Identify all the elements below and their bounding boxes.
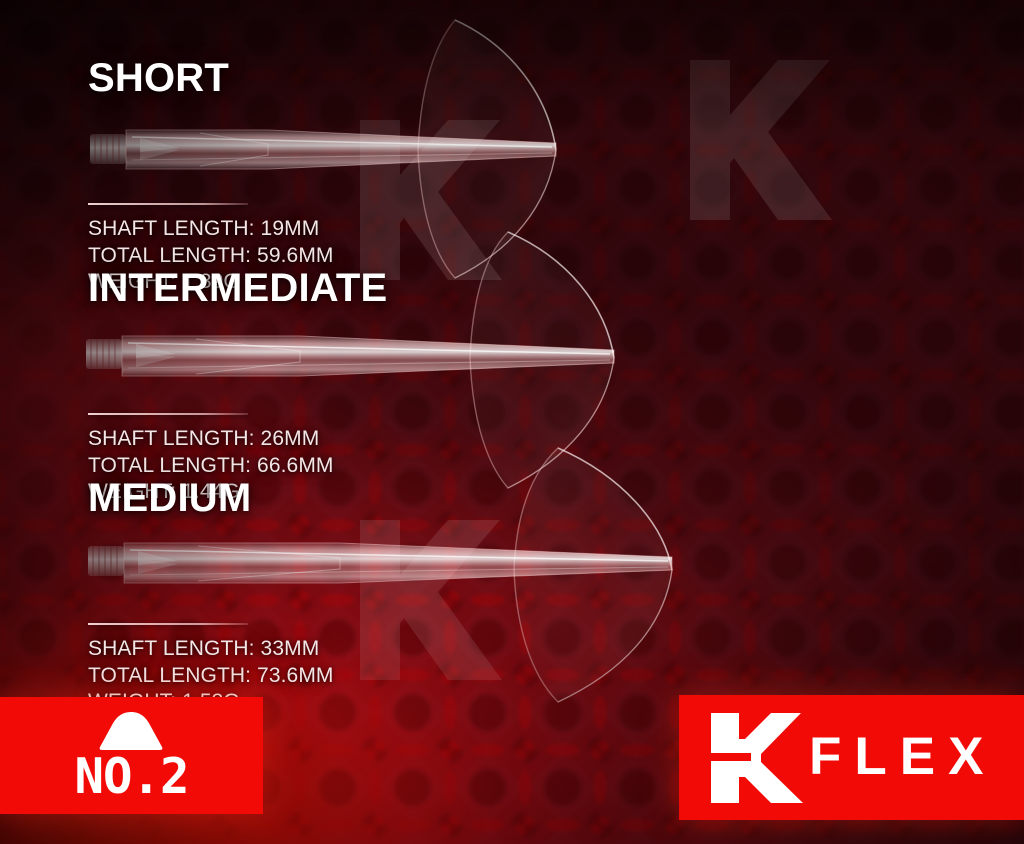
no2-logo: NO.2 xyxy=(74,711,188,801)
divider-medium xyxy=(88,623,248,625)
size-title-short: SHORT xyxy=(88,58,334,98)
kflex-k-icon xyxy=(709,709,803,807)
poster-canvas: SHORT SHAFT LENGTH: 19MM TOTAL LENGTH: 5… xyxy=(0,0,1024,844)
divider-short xyxy=(88,203,248,205)
kflex-wordmark: FLEX xyxy=(809,730,996,786)
divider-intermediate xyxy=(88,413,248,415)
size-block-medium: MEDIUM SHAFT LENGTH: 33MM TOTAL LENGTH: … xyxy=(88,478,334,716)
dart-flight-icon xyxy=(88,711,174,751)
spec-shaft-length-medium: SHAFT LENGTH: 33MM xyxy=(88,636,334,663)
size-title-intermediate: INTERMEDIATE xyxy=(88,268,387,308)
no2-label: NO.2 xyxy=(74,752,188,801)
spec-shaft-length-short: SHAFT LENGTH: 19MM xyxy=(88,216,334,243)
kflex-logo: FLEX xyxy=(709,709,996,807)
size-block-short: SHORT SHAFT LENGTH: 19MM TOTAL LENGTH: 5… xyxy=(88,58,334,296)
no2-brand-banner: NO.2 xyxy=(0,697,263,814)
size-block-intermediate: INTERMEDIATE SHAFT LENGTH: 26MM TOTAL LE… xyxy=(88,268,387,506)
spec-total-length-medium: TOTAL LENGTH: 73.6MM xyxy=(88,663,334,690)
kflex-brand-banner: FLEX xyxy=(679,695,1024,820)
size-title-medium: MEDIUM xyxy=(88,478,334,518)
spec-shaft-length-intermediate: SHAFT LENGTH: 26MM xyxy=(88,426,387,453)
